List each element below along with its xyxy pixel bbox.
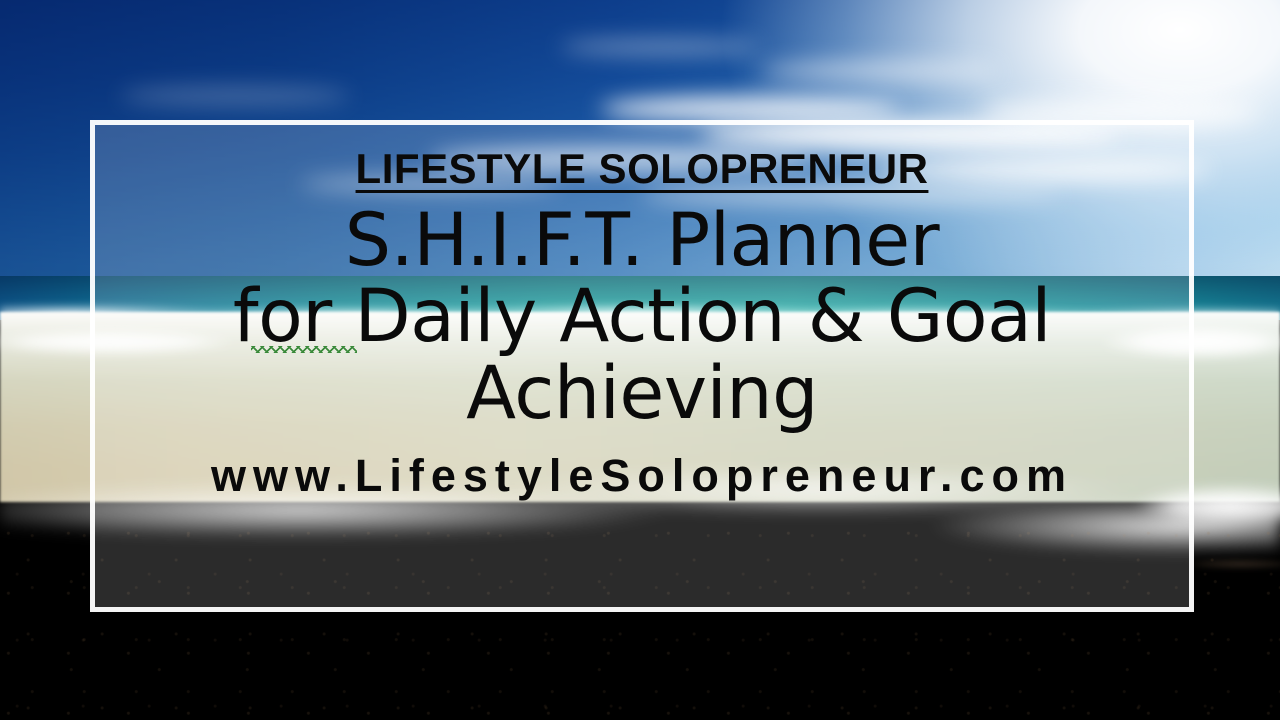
cloud-streak-icon [120, 86, 350, 106]
eyebrow-heading: LIFESTYLE SOLOPRENEUR [356, 148, 929, 190]
cloud-streak-icon [600, 96, 900, 122]
slide-canvas: LIFESTYLE SOLOPRENEUR S.H.I.F.T. Planner… [0, 0, 1280, 720]
spellcheck-squiggle-icon [251, 346, 357, 353]
shoreline-debris [1180, 556, 1280, 572]
title-text-block: LIFESTYLE SOLOPRENEUR S.H.I.F.T. Planner… [90, 120, 1194, 612]
headline-line-3: Achieving [466, 357, 818, 431]
headline-line-1: S.H.I.F.T. Planner [345, 204, 939, 278]
headline-line-2-wrapper: for Daily Action & Goal [233, 280, 1051, 354]
website-url: www.LifestyleSolopreneur.com [211, 453, 1073, 498]
cloud-streak-icon [760, 62, 1000, 80]
cloud-streak-icon [560, 40, 760, 54]
